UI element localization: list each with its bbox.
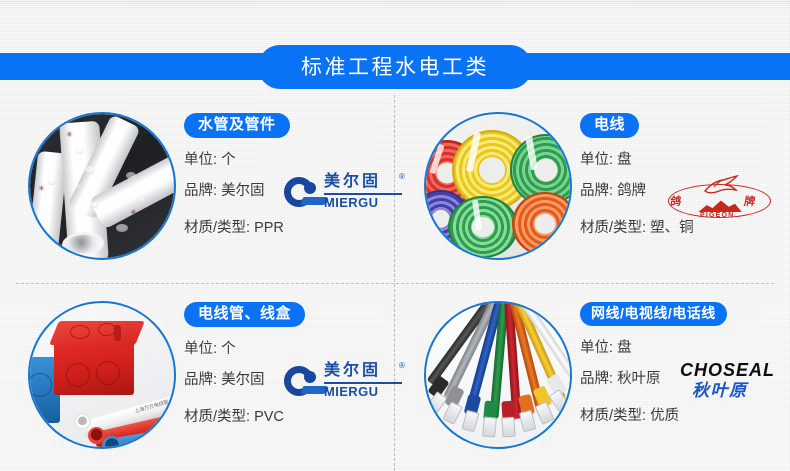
brand-value: 美尔固 [221,372,265,388]
product-info-water-pipes: 水管及管件 单位: 个 品牌: 美尔固 美尔固 [184,113,390,237]
unit-row: 单位: 盘 [580,341,786,357]
brand-label: 品牌: [184,183,217,199]
logo-miergu-cn: 美尔固 [324,363,381,379]
material-label: 材质/类型: [580,408,646,424]
brand-value: 秋叶原 [617,371,661,387]
unit-label: 单位: [184,152,217,168]
material-label: 材质/类型: [184,409,250,425]
material-value: 优质 [650,408,679,424]
logo-choseal-cn: 秋叶原 [692,382,748,399]
product-category-infographic: 标准工程水电工类 [0,0,790,471]
category-badge: 电线管、线盒 [184,302,305,327]
logo-miergu-en: MIERGU [324,385,378,398]
product-card-electrical-wire[interactable]: 电线 单位: 盘 品牌: 鸽牌 [396,95,790,283]
logo-pigeon-cn-left: 鸽 [669,196,682,208]
category-badge: 水管及管件 [184,113,290,138]
product-card-conduit-boxes[interactable]: 上海万方电线管 电线管、线盒 单位: 个 品牌: 美尔固 [0,284,394,471]
unit-row: 单位: 个 [184,153,390,169]
category-badge: 网线/电视线/电话线 [580,302,727,326]
brand-row: 品牌: 美尔固 美尔固 MIERGU ® [184,373,390,395]
unit-row: 单位: 个 [184,342,390,358]
unit-label: 单位: [580,152,613,168]
material-row: 材质/类型: PPR [184,221,390,237]
brand-logo-choseal: CHOSEAL 秋叶原 [678,361,790,405]
brand-label: 品牌: [580,183,613,199]
cards-grid: ✳ ✳ ✳ 水管及管件 单位: 个 品牌: 美尔固 [0,95,790,471]
product-card-network-cables[interactable]: 网线/电视线/电话线 单位: 盘 品牌: 秋叶原 CHOSEAL 秋叶原 [396,284,790,471]
brand-logo-miergu: 美尔固 MIERGU ® [284,362,404,406]
logo-choseal-en: CHOSEAL [680,361,775,379]
product-photo-ppr-pipes: ✳ ✳ ✳ [28,112,176,260]
product-info-network-cables: 网线/电视线/电话线 单位: 盘 品牌: 秋叶原 CHOSEAL 秋叶原 [580,302,786,425]
product-info-conduit-boxes: 电线管、线盒 单位: 个 品牌: 美尔固 美尔固 [184,302,390,426]
product-card-water-pipes[interactable]: ✳ ✳ ✳ 水管及管件 单位: 个 品牌: 美尔固 [0,95,394,283]
unit-value: 盘 [617,152,632,168]
brand-row: 品牌: 美尔固 美尔固 MIERGU ® [184,184,390,206]
dove-icon [702,175,740,199]
material-value: PVC [254,409,284,425]
unit-label: 单位: [184,341,217,357]
header-banner-pill: 标准工程水电工类 [258,45,532,89]
logo-miergu-cn: 美尔固 [324,174,381,190]
product-photo-wire-coils [424,112,572,260]
material-row: 材质/类型: 塑、铜 [580,221,786,237]
material-row: 材质/类型: 优质 [580,409,786,425]
unit-label: 单位: [580,340,613,356]
unit-value: 盘 [617,340,632,356]
logo-pigeon-en: PIGEON [700,212,734,220]
product-photo-patch-cables [424,301,572,449]
category-badge: 电线 [580,113,639,138]
product-photo-junction-box: 上海万方电线管 [28,301,176,449]
material-label: 材质/类型: [580,220,646,236]
brand-value: 鸽牌 [617,183,646,199]
brand-row: 品牌: 鸽牌 PIGEON [580,184,786,206]
page-title: 标准工程水电工类 [301,57,489,78]
material-row: 材质/类型: PVC [184,410,390,426]
logo-pigeon-cn-right: 牌 [743,196,756,208]
brand-logo-miergu: 美尔固 MIERGU ® [284,173,404,217]
material-value: 塑、铜 [650,220,694,236]
product-info-electrical-wire: 电线 单位: 盘 品牌: 鸽牌 [580,113,786,237]
brand-logo-pigeon: PIGEON 鸽 牌 [668,172,788,216]
unit-row: 单位: 盘 [580,153,786,169]
unit-value: 个 [221,341,236,357]
unit-value: 个 [221,152,236,168]
brand-value: 美尔固 [221,183,265,199]
brand-label: 品牌: [580,371,613,387]
brand-row: 品牌: 秋叶原 CHOSEAL 秋叶原 [580,372,786,394]
material-label: 材质/类型: [184,220,250,236]
brand-label: 品牌: [184,372,217,388]
logo-miergu-en: MIERGU [324,196,378,209]
material-value: PPR [254,220,284,236]
